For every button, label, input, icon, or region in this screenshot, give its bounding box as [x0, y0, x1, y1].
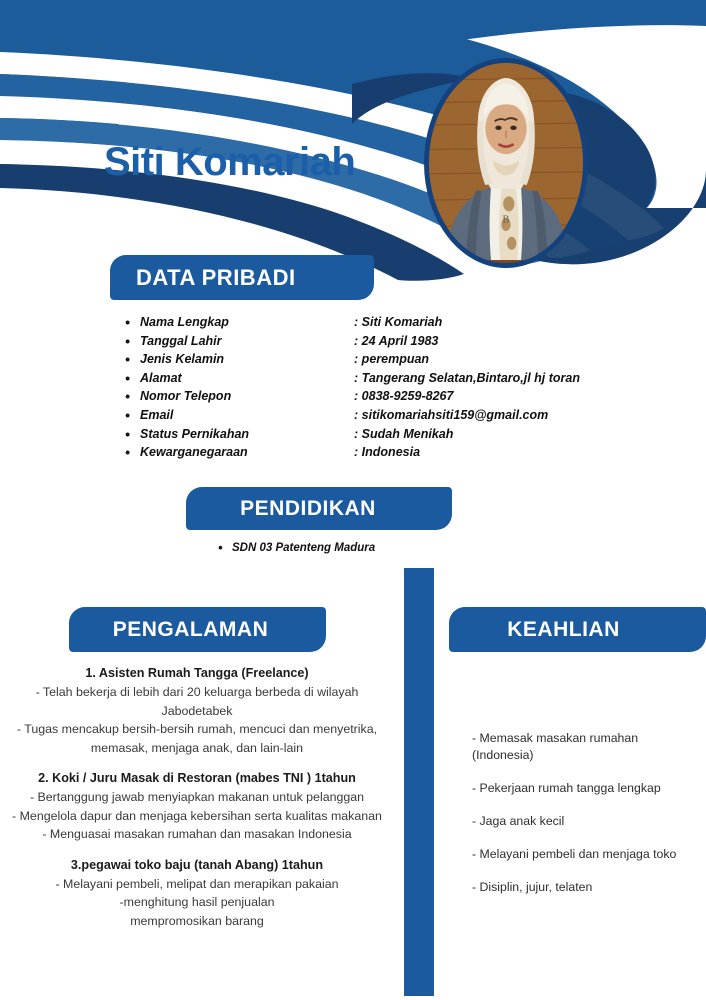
portrait-illustration: B: [429, 63, 583, 260]
skills-list: - Memasak masakan rumahan (Indonesia) - …: [472, 730, 688, 912]
list-item: Nama Lengkap: [120, 313, 354, 332]
list-item: Kewarganegaraan: [120, 443, 354, 462]
list-item: Alamat: [120, 369, 354, 388]
avatar: B: [424, 58, 588, 268]
section-header-experience: PENGALAMAN: [69, 607, 326, 652]
experience-detail: - Melayani pembeli, melipat dan merapika…: [6, 875, 388, 894]
list-item: 1. Asisten Rumah Tangga (Freelance) - Te…: [6, 665, 388, 757]
experience-detail: mempromosikan barang: [6, 912, 388, 931]
experience-list: 1. Asisten Rumah Tangga (Freelance) - Te…: [6, 665, 388, 943]
wave-band-main: [0, 0, 706, 264]
list-item: - Melayani pembeli dan menjaga toko: [472, 846, 688, 863]
personal-data-values: : Siti Komariah : 24 April 1983 : peremp…: [354, 313, 580, 462]
experience-detail: - Tugas mencakup bersih-bersih rumah, me…: [6, 720, 388, 757]
experience-detail: - Bertanggung jawab menyiapkan makanan u…: [6, 788, 388, 807]
value-nama-lengkap: : Siti Komariah: [354, 313, 580, 332]
value-status-pernikahan: : Sudah Menikah: [354, 425, 580, 444]
section-header-personal: DATA PRIBADI: [110, 255, 374, 300]
section-header-skills: KEAHLIAN: [449, 607, 706, 652]
list-item: - Jaga anak kecil: [472, 813, 688, 830]
list-item: 2. Koki / Juru Masak di Restoran (mabes …: [6, 770, 388, 844]
experience-title: 2. Koki / Juru Masak di Restoran (mabes …: [6, 770, 388, 787]
cv-page: B Siti Komariah DATA PRIBADI Nama Lengka…: [0, 0, 706, 1000]
experience-detail: - Telah bekerja di lebih dari 20 keluarg…: [6, 683, 388, 720]
personal-data-labels: Nama Lengkap Tanggal Lahir Jenis Kelamin…: [120, 313, 354, 462]
list-item: Tanggal Lahir: [120, 332, 354, 351]
list-item: - Pekerjaan rumah tangga lengkap: [472, 780, 688, 797]
experience-detail: - Mengelola dapur dan menjaga kebersihan…: [6, 807, 388, 826]
list-item: SDN 03 Patenteng Madura: [218, 540, 518, 556]
list-item: Email: [120, 406, 354, 425]
value-jenis-kelamin: : perempuan: [354, 350, 580, 369]
list-item: - Memasak masakan rumahan (Indonesia): [472, 730, 688, 764]
value-nomor-telepon: : 0838-9259-8267: [354, 387, 580, 406]
value-kewarganegaraan: : Indonesia: [354, 443, 580, 462]
list-item: Status Pernikahan: [120, 425, 354, 444]
list-item: - Disiplin, jujur, telaten: [472, 879, 688, 896]
column-divider: [404, 568, 434, 996]
svg-text:B: B: [503, 215, 510, 226]
personal-data-table: Nama Lengkap Tanggal Lahir Jenis Kelamin…: [120, 313, 580, 462]
value-alamat: : Tangerang Selatan,Bintaro,jl hj toran: [354, 369, 580, 388]
page-title: Siti Komariah: [104, 140, 355, 185]
experience-detail: - Menguasai masakan rumahan dan masakan …: [6, 825, 388, 844]
experience-title: 1. Asisten Rumah Tangga (Freelance): [6, 665, 388, 682]
list-item: Jenis Kelamin: [120, 350, 354, 369]
list-item: 3.pegawai toko baju (tanah Abang) 1tahun…: [6, 857, 388, 931]
experience-detail: -menghitung hasil penjualan: [6, 893, 388, 912]
section-header-education: PENDIDIKAN: [186, 487, 452, 530]
experience-title: 3.pegawai toko baju (tanah Abang) 1tahun: [6, 857, 388, 874]
value-tanggal-lahir: : 24 April 1983: [354, 332, 580, 351]
list-item: Nomor Telepon: [120, 387, 354, 406]
value-email: : sitikomariahsiti159@gmail.com: [354, 406, 580, 425]
education-list: SDN 03 Patenteng Madura: [218, 540, 518, 556]
